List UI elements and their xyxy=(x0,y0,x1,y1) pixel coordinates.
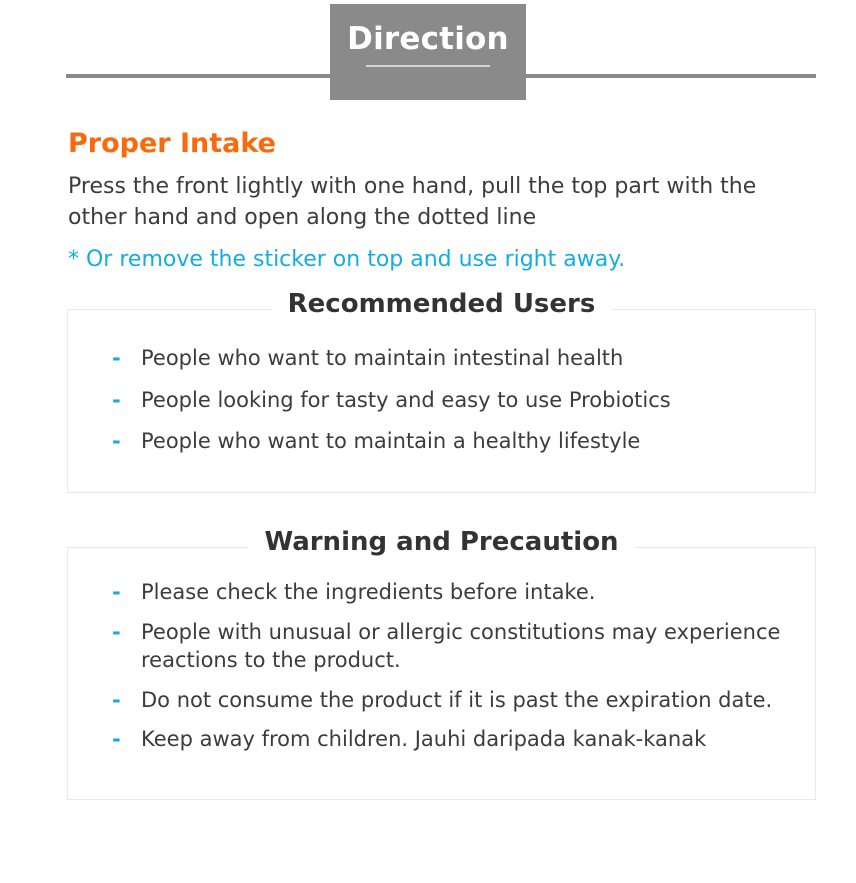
dash-bullet-icon: - xyxy=(112,386,121,415)
header-title-tab: Direction xyxy=(330,4,526,100)
proper-intake-section: Proper Intake Press the front lightly wi… xyxy=(0,100,856,275)
list-item-label: Please check the ingredients before inta… xyxy=(141,580,595,604)
list-item-label: Keep away from children. Jauhi daripada … xyxy=(141,727,706,751)
warning-precaution-body: - Please check the ingredients before in… xyxy=(68,548,815,799)
list-item: - Do not consume the product if it is pa… xyxy=(112,686,787,715)
list-item: - Keep away from children. Jauhi daripad… xyxy=(112,725,787,754)
dash-bullet-icon: - xyxy=(112,578,121,607)
list-item: - People who want to maintain intestinal… xyxy=(112,344,787,373)
list-item-label: People with unusual or allergic constitu… xyxy=(141,620,780,673)
dash-bullet-icon: - xyxy=(112,427,121,456)
warning-precaution-panel: Warning and Precaution - Please check th… xyxy=(67,547,816,800)
list-item: - People with unusual or allergic consti… xyxy=(112,618,787,675)
recommended-users-panel: Recommended Users - People who want to m… xyxy=(67,309,816,493)
list-item-label: Do not consume the product if it is past… xyxy=(141,688,772,712)
dash-bullet-icon: - xyxy=(112,686,121,715)
recommended-users-body: - People who want to maintain intestinal… xyxy=(68,310,815,492)
warning-precaution-list: - Please check the ingredients before in… xyxy=(112,578,787,754)
dash-bullet-icon: - xyxy=(112,618,121,647)
direction-page: Direction Proper Intake Press the front … xyxy=(0,0,856,883)
recommended-users-list: - People who want to maintain intestinal… xyxy=(112,344,787,456)
list-item: - People who want to maintain a healthy … xyxy=(112,427,787,456)
proper-intake-heading: Proper Intake xyxy=(68,128,816,159)
list-item-label: People who want to maintain intestinal h… xyxy=(141,346,623,370)
proper-intake-note: * Or remove the sticker on top and use r… xyxy=(68,245,816,276)
page-title: Direction xyxy=(347,22,509,56)
header-title-underline xyxy=(366,65,490,67)
proper-intake-description: Press the front lightly with one hand, p… xyxy=(68,171,808,233)
dash-bullet-icon: - xyxy=(112,725,121,754)
section-header: Direction xyxy=(0,0,856,100)
warning-precaution-legend: Warning and Precaution xyxy=(248,527,634,558)
list-item-label: People looking for tasty and easy to use… xyxy=(141,388,671,412)
dash-bullet-icon: - xyxy=(112,344,121,373)
list-item: - People looking for tasty and easy to u… xyxy=(112,386,787,415)
recommended-users-legend: Recommended Users xyxy=(272,289,612,320)
list-item-label: People who want to maintain a healthy li… xyxy=(141,429,640,453)
list-item: - Please check the ingredients before in… xyxy=(112,578,787,607)
